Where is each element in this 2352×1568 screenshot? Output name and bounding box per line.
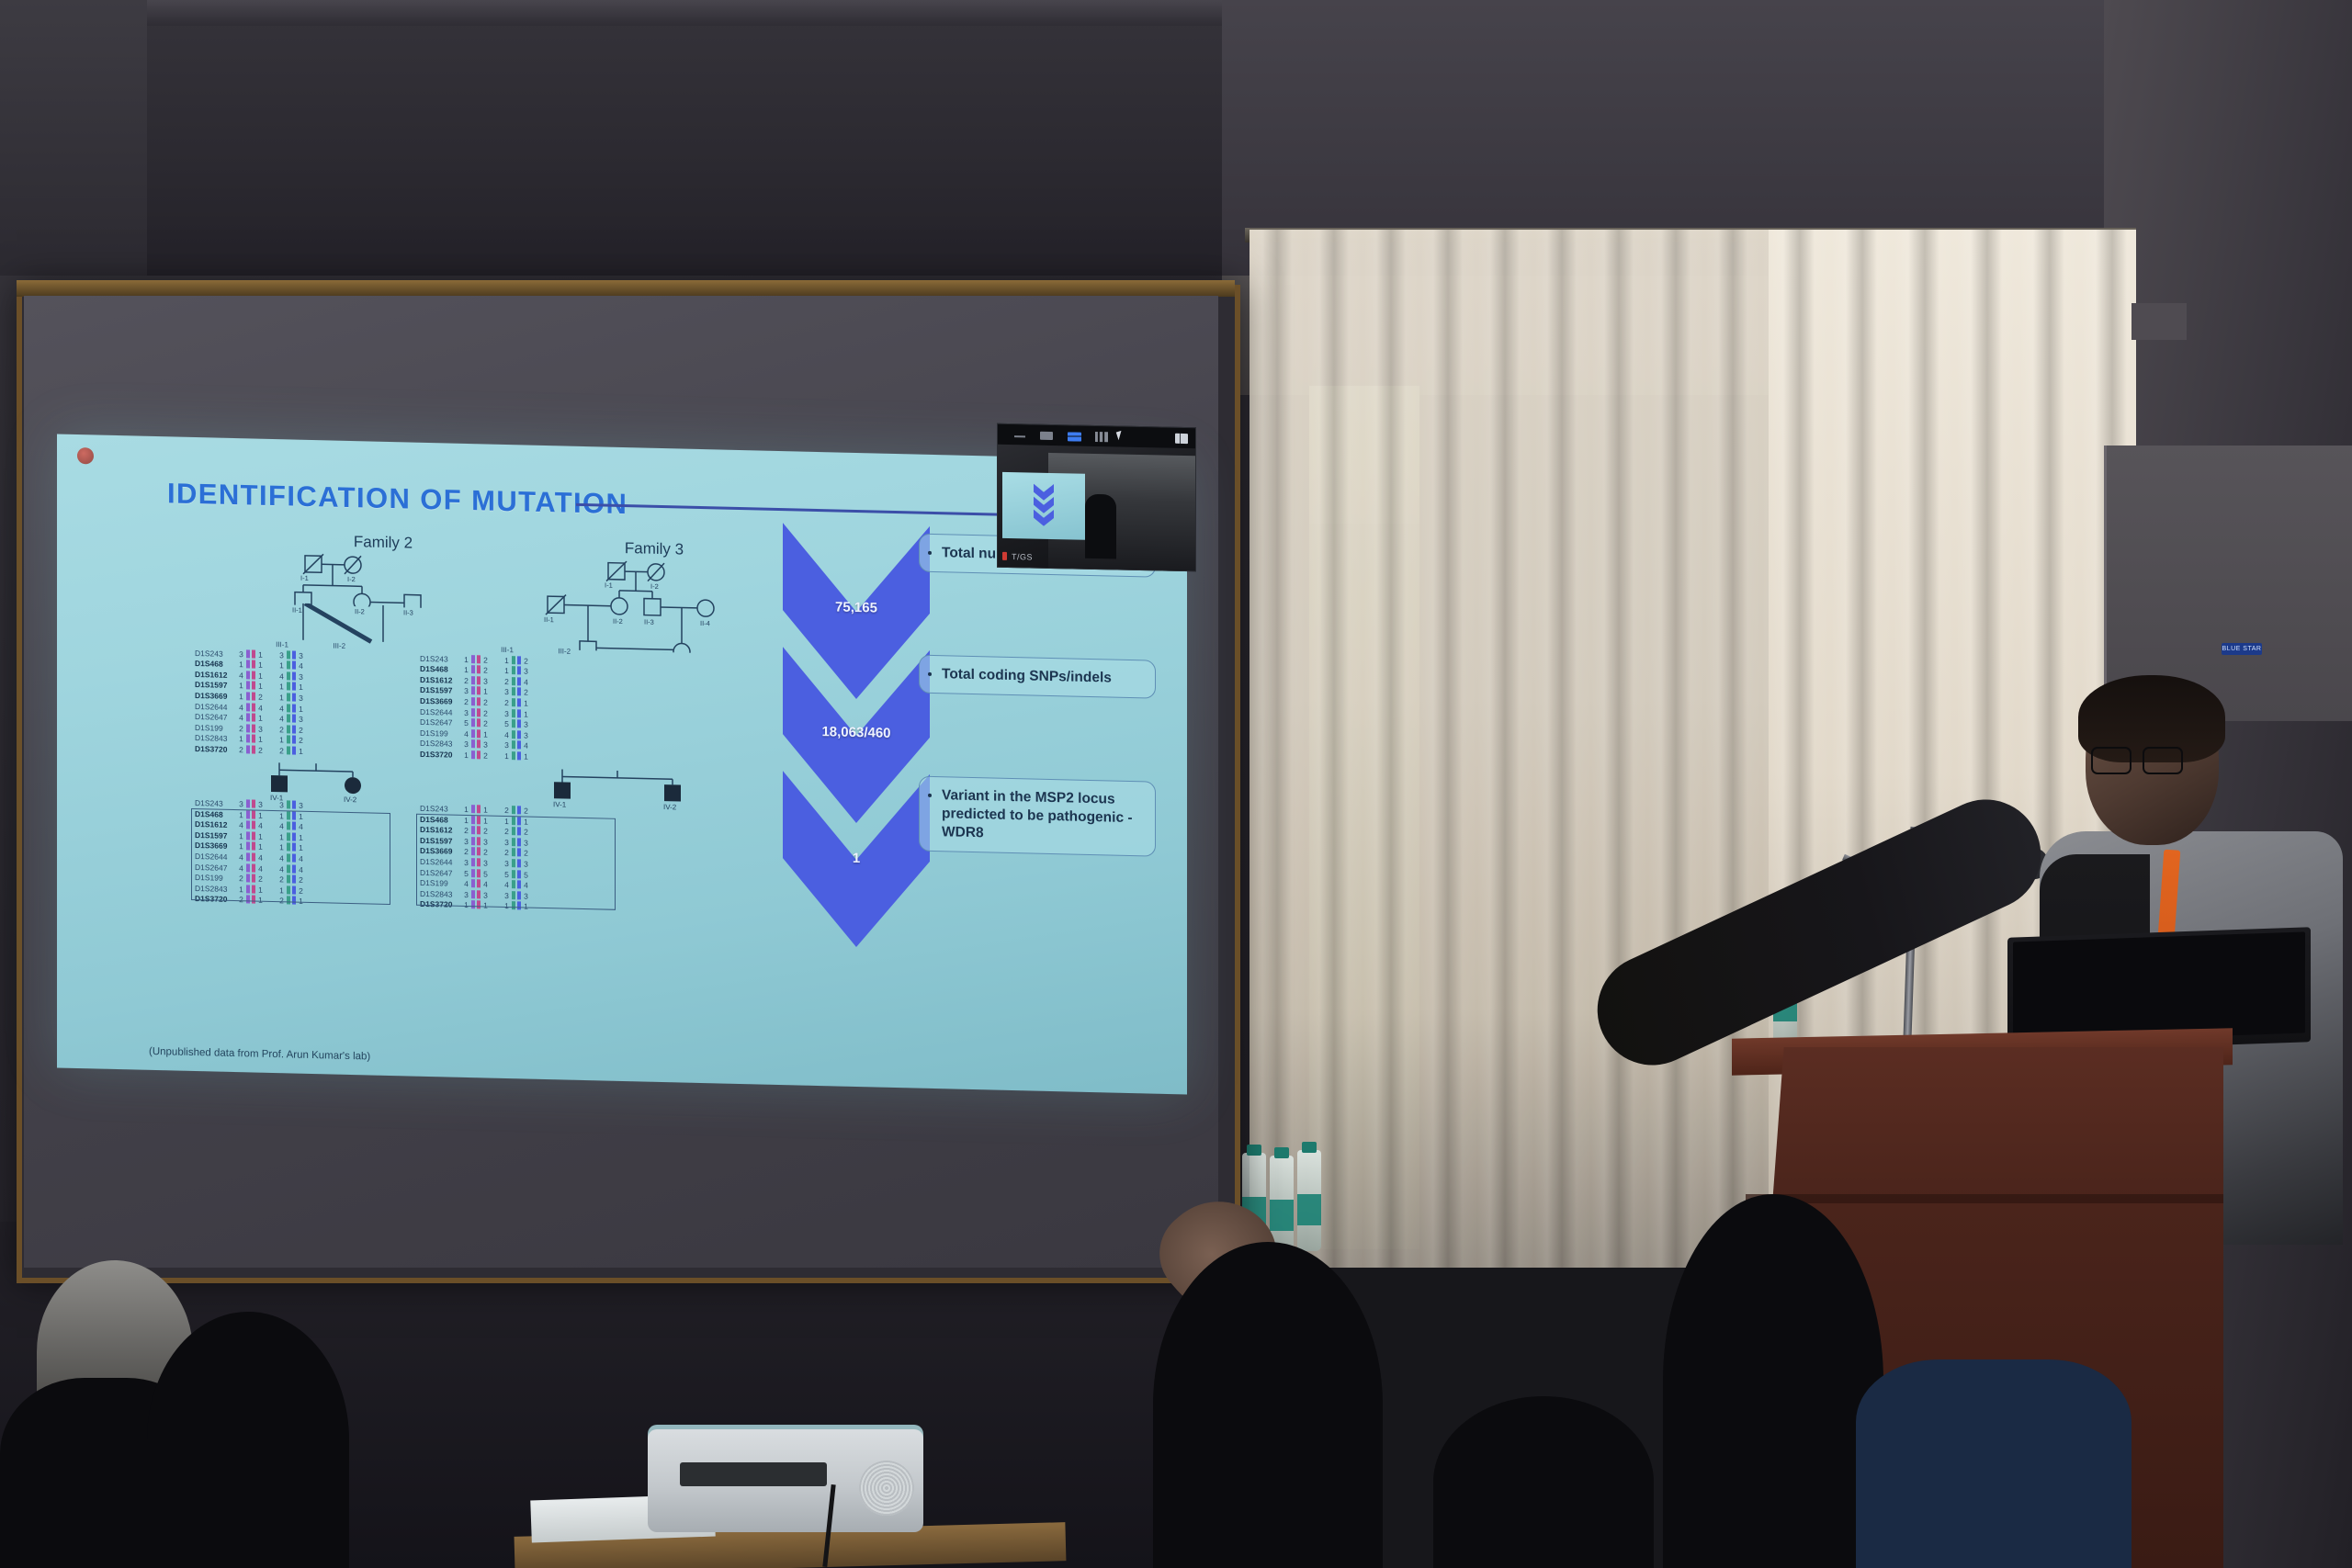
haplotype-allele: 2 xyxy=(297,725,305,736)
haplotype-allele: 1 xyxy=(522,709,530,720)
video-conference-feed: T/GS xyxy=(998,445,1195,571)
haplotype-bar xyxy=(246,682,250,690)
haplotype-bar xyxy=(477,665,481,673)
haplotype-table-family3-upper: III-1 III-2 D1S2431212D1S4681213D1S16122… xyxy=(420,643,585,764)
haplotype-bar xyxy=(246,724,250,732)
haplotype-allele: 1 xyxy=(481,805,490,816)
haplotype-bar xyxy=(287,693,290,701)
haplotype-allele: 1 xyxy=(503,751,511,762)
haplotype-bar xyxy=(512,741,515,750)
haplotype-bar xyxy=(246,692,250,700)
haplotype-bar xyxy=(471,805,475,813)
haplotype-bar xyxy=(512,806,515,814)
video-conference-overlay[interactable]: T/GS xyxy=(997,423,1196,572)
haplotype-bar xyxy=(246,671,250,679)
haplotype-bar xyxy=(517,806,521,814)
haplotype-bar xyxy=(517,688,521,696)
haplotype-allele: 3 xyxy=(297,715,305,726)
eyeglasses-icon xyxy=(2091,747,2183,773)
haplotype-allele: 4 xyxy=(237,713,245,724)
haplotype-bar xyxy=(252,745,255,753)
haplotype-allele: 2 xyxy=(237,745,245,756)
affected-male-symbol xyxy=(271,775,288,792)
haplotype-allele: 1 xyxy=(297,704,305,715)
haplotype-allele: 4 xyxy=(277,704,286,715)
haplotype-bar xyxy=(246,714,250,722)
haplotype-bar xyxy=(477,718,481,727)
haplotype-bar xyxy=(287,736,290,744)
haplotype-table-family2-upper: III-1 III-2 D1S2433133D1S4681114D1S16124… xyxy=(195,637,360,759)
bottle-cap-icon xyxy=(1302,1142,1317,1153)
projector-vent-icon xyxy=(859,1461,914,1516)
haplotype-bar xyxy=(246,799,250,807)
single-view-icon[interactable] xyxy=(1040,432,1053,440)
haplotype-allele: 4 xyxy=(522,677,530,688)
haplotype-allele: 3 xyxy=(522,720,530,731)
title-underline-rule xyxy=(576,503,999,516)
slide-footnote: (Unpublished data from Prof. Arun Kumar'… xyxy=(149,1046,370,1063)
pedigree-label-II-4: II-4 xyxy=(700,619,710,627)
haplotype-allele: 2 xyxy=(522,806,530,817)
haplotype-allele: 4 xyxy=(277,671,286,682)
shared-haplotype-region-box-family2 xyxy=(191,808,390,905)
haplotype-bar xyxy=(512,730,515,739)
haplotype-allele: 1 xyxy=(503,666,511,677)
haplotype-bar xyxy=(512,709,515,717)
haplotype-allele: 1 xyxy=(277,736,286,747)
bottle-cap-icon xyxy=(1274,1147,1289,1158)
haplotype-bar xyxy=(292,801,296,809)
haplotype-allele: 1 xyxy=(462,665,470,676)
haplotype-bar xyxy=(477,655,481,663)
haplotype-column-header: III-1 xyxy=(261,639,303,651)
haplotype-bar xyxy=(471,750,475,759)
haplotype-bar xyxy=(292,694,296,702)
haplotype-allele: 3 xyxy=(462,739,470,750)
haplotype-allele: 1 xyxy=(481,729,490,740)
haplotype-bar xyxy=(287,682,290,691)
haplotype-bar xyxy=(512,751,515,760)
haplotype-bar xyxy=(512,677,515,685)
pedigree-label-I-1: I-1 xyxy=(300,574,309,582)
bottle-label xyxy=(1270,1200,1294,1231)
haplotype-bar xyxy=(512,688,515,696)
haplotype-bar xyxy=(292,661,296,670)
haplotype-allele: 1 xyxy=(503,656,511,667)
haplotype-allele: 3 xyxy=(462,686,470,697)
haplotype-allele: 3 xyxy=(297,671,305,682)
air-conditioner-brand-label: BLUE STAR xyxy=(2222,643,2262,655)
haplotype-bar xyxy=(292,682,296,691)
haplotype-allele: 2 xyxy=(481,697,490,708)
haplotype-allele: 3 xyxy=(237,649,245,660)
haplotype-bar xyxy=(246,703,250,711)
haplotype-allele: 4 xyxy=(277,714,286,725)
haplotype-bar xyxy=(252,703,255,711)
haplotype-allele: 4 xyxy=(503,730,511,741)
haplotype-allele: 1 xyxy=(256,735,265,746)
pedigree-family-3-graph: I-1 I-2 II-1 II-2 II-3 II-4 xyxy=(516,555,792,655)
haplotype-allele: 3 xyxy=(522,667,530,678)
gallery-view-icon[interactable] xyxy=(1095,432,1108,442)
haplotype-bar xyxy=(292,704,296,712)
haplotype-bar xyxy=(477,729,481,738)
eyeglass-lens-left xyxy=(2091,747,2131,774)
haplotype-allele: 3 xyxy=(237,799,245,810)
pedigree-label-IV-1: IV-1 xyxy=(553,800,567,808)
funnel-callout-2: Total coding SNPs/indels xyxy=(919,655,1156,699)
haplotype-allele: 3 xyxy=(462,707,470,718)
remote-person-silhouette xyxy=(1085,494,1116,559)
pedigree-family-2-generation-1-2: I-1 I-2 xyxy=(250,548,516,610)
haplotype-allele: 1 xyxy=(256,682,265,693)
slide-title: IDENTIFICATION OF MUTATION xyxy=(167,477,628,521)
minimize-icon[interactable] xyxy=(1014,435,1025,437)
audience-member-head xyxy=(1153,1242,1383,1568)
haplotype-allele: 1 xyxy=(462,805,470,816)
haplotype-allele: 2 xyxy=(503,698,511,709)
water-bottle xyxy=(1297,1150,1321,1251)
projector-port-panel xyxy=(680,1462,827,1486)
haplotype-allele: 3 xyxy=(503,687,511,698)
haplotype-allele: 1 xyxy=(237,660,245,671)
haplotype-allele: 5 xyxy=(462,718,470,729)
video-conference-badge: T/GS xyxy=(1002,550,1033,564)
haplotype-bar xyxy=(471,739,475,748)
haplotype-allele: 1 xyxy=(256,660,265,671)
haplotype-allele: 1 xyxy=(462,750,470,761)
haplotype-bar xyxy=(287,715,290,723)
haplotype-allele: 3 xyxy=(297,801,305,812)
haplotype-bar xyxy=(471,729,475,738)
shared-slide-thumbnail[interactable] xyxy=(1002,472,1085,540)
haplotype-allele: 2 xyxy=(277,746,286,757)
haplotype-bar xyxy=(292,725,296,733)
haplotype-bar xyxy=(517,741,521,750)
haplotype-bar xyxy=(512,666,515,674)
haplotype-allele: 3 xyxy=(297,694,305,705)
funnel-callout-text: Total coding SNPs/indels xyxy=(942,665,1146,688)
haplotype-bar xyxy=(471,655,475,663)
haplotype-allele: 1 xyxy=(277,682,286,694)
haplotype-allele: 1 xyxy=(522,698,530,709)
haplotype-bar xyxy=(246,649,250,658)
haplotype-bar xyxy=(517,656,521,664)
haplotype-allele: 4 xyxy=(462,729,470,740)
pedigree-label-I-2: I-2 xyxy=(650,582,659,591)
haplotype-bar xyxy=(252,671,255,679)
haplotype-allele: 1 xyxy=(522,751,530,762)
haplotype-allele: 2 xyxy=(481,750,490,761)
haplotype-bar xyxy=(471,676,475,684)
haplotype-allele: 3 xyxy=(481,740,490,751)
podium-front-edge xyxy=(1746,1194,2223,1203)
pedigree-label-I-1: I-1 xyxy=(605,581,613,590)
haplotype-rows: D1S2433133D1S4681114D1S16124143D1S159711… xyxy=(195,649,360,759)
haplotype-allele: 1 xyxy=(237,692,245,703)
haplotype-marker-label: D1S3720 xyxy=(195,744,237,756)
haplotype-allele: 2 xyxy=(277,725,286,736)
funnel-callout-3: Variant in the MSP2 locus predicted to b… xyxy=(919,776,1156,857)
haplotype-bar xyxy=(287,661,290,670)
haplotype-bar xyxy=(252,649,255,658)
haplotype-allele: 4 xyxy=(522,741,530,752)
haplotype-allele: 2 xyxy=(503,677,511,688)
haplotype-allele: 3 xyxy=(277,650,286,661)
haplotype-allele: 1 xyxy=(237,734,245,745)
haplotype-allele: 3 xyxy=(256,800,265,811)
haplotype-allele: 2 xyxy=(481,655,490,666)
institution-logo-icon xyxy=(77,447,94,464)
affected-male-symbol xyxy=(664,784,681,801)
eyeglass-lens-right xyxy=(2143,747,2183,774)
video-conference-badge-label: T/GS xyxy=(1012,552,1033,561)
haplotype-allele: 3 xyxy=(503,708,511,719)
haplotype-allele: 3 xyxy=(522,730,530,741)
haplotype-allele: 3 xyxy=(297,650,305,661)
haplotype-bar xyxy=(517,730,521,739)
haplotype-bar xyxy=(517,667,521,675)
audience-member-shoulder xyxy=(1433,1396,1654,1568)
upper-left-wall xyxy=(0,0,147,303)
haplotype-bar xyxy=(477,740,481,749)
haplotype-allele: 2 xyxy=(462,676,470,687)
haplotype-bar xyxy=(517,698,521,706)
haplotype-allele: 2 xyxy=(256,746,265,757)
haplotype-bar xyxy=(471,708,475,716)
haplotype-bar xyxy=(252,714,255,722)
haplotype-allele: 3 xyxy=(503,740,511,751)
pedigree-label-II-3: II-3 xyxy=(644,618,654,626)
haplotype-bar xyxy=(477,687,481,695)
haplotype-column-header: III-2 xyxy=(318,640,360,652)
thumbnail-chevrons-icon xyxy=(1034,484,1054,526)
haplotype-bar xyxy=(517,719,521,728)
haplotype-bar xyxy=(246,745,250,753)
haplotype-allele: 1 xyxy=(237,682,245,693)
funnel-callout-text: Variant in the MSP2 locus predicted to b… xyxy=(942,786,1146,846)
haplotype-bar xyxy=(471,687,475,695)
haplotype-bar xyxy=(512,719,515,728)
haplotype-bar xyxy=(292,715,296,723)
haplotype-bar xyxy=(287,704,290,712)
haplotype-bar xyxy=(512,656,515,664)
haplotype-bar xyxy=(246,660,250,669)
pedigree-label-II-3: II-3 xyxy=(403,608,413,616)
haplotype-allele: 3 xyxy=(481,676,490,687)
affected-female-symbol xyxy=(345,777,361,794)
haplotype-bar xyxy=(252,682,255,690)
wall-plate xyxy=(2131,303,2187,340)
haplotype-bar xyxy=(477,697,481,705)
haplotype-allele: 1 xyxy=(297,747,305,758)
haplotype-allele: 2 xyxy=(297,736,305,747)
haplotype-bar xyxy=(292,671,296,680)
pedigree-label-II-2: II-2 xyxy=(355,607,365,615)
audience-member-head xyxy=(147,1312,349,1568)
haplotype-bar xyxy=(252,692,255,700)
haplotype-marker-label: D1S3720 xyxy=(420,750,462,761)
haplotype-allele: 1 xyxy=(256,649,265,660)
haplotype-bar xyxy=(477,676,481,684)
curtain-left xyxy=(1249,230,1782,1268)
haplotype-allele: 2 xyxy=(256,693,265,704)
haplotype-allele: 4 xyxy=(297,661,305,672)
haplotype-bar xyxy=(292,650,296,659)
haplotype-bar xyxy=(292,746,296,754)
haplotype-allele: 5 xyxy=(503,719,511,730)
haplotype-bar xyxy=(287,725,290,733)
haplotype-allele: 4 xyxy=(237,671,245,682)
haplotype-bar xyxy=(517,709,521,717)
haplotype-allele: 4 xyxy=(237,703,245,714)
haplotype-bar xyxy=(246,735,250,743)
pedigree-label-I-2: I-2 xyxy=(347,575,356,583)
haplotype-allele: 1 xyxy=(277,660,286,671)
haplotype-allele: 1 xyxy=(297,682,305,694)
haplotype-bar xyxy=(287,671,290,680)
haplotype-bar xyxy=(517,677,521,685)
pedigree-label-II-1: II-1 xyxy=(544,615,554,624)
haplotype-bar xyxy=(252,660,255,669)
haplotype-bar xyxy=(287,650,290,659)
haplotype-column-header: III-1 xyxy=(486,645,528,657)
audience-member-head xyxy=(1663,1194,1883,1568)
haplotype-allele: 4 xyxy=(256,703,265,714)
pedigree-label-IV-2: IV-2 xyxy=(344,795,357,804)
haplotype-bar xyxy=(477,805,481,813)
audience-member-shoulder xyxy=(1856,1359,2131,1568)
cursor-icon xyxy=(1116,431,1124,440)
pedigree-label-II-1: II-1 xyxy=(292,606,302,615)
haplotype-allele: 1 xyxy=(462,654,470,665)
haplotype-column-header: III-2 xyxy=(543,646,585,658)
haplotype-bar xyxy=(252,735,255,743)
haplotype-bar xyxy=(477,750,481,759)
haplotype-allele: 2 xyxy=(237,724,245,735)
haplotype-allele: 1 xyxy=(256,671,265,682)
bottle-cap-icon xyxy=(1247,1145,1261,1156)
pedigree-family-3: Family 3 xyxy=(516,536,792,655)
haplotype-allele: 2 xyxy=(481,666,490,677)
haplotype-allele: 2 xyxy=(522,656,530,667)
pedigree-family-2: Family 2 I-1 xyxy=(250,530,516,647)
affected-male-symbol xyxy=(554,782,571,798)
variant-filtering-funnel: 75,165 Total number of variants 18,063/4… xyxy=(783,523,1169,1046)
recording-indicator-icon xyxy=(1002,552,1007,560)
haplotype-allele: 3 xyxy=(277,800,286,811)
haplotype-allele: 2 xyxy=(522,688,530,699)
haplotype-allele: 1 xyxy=(481,687,490,698)
pedigree-label-II-2: II-2 xyxy=(613,617,623,626)
screenshot-root: BLUE STAR Introduction IDENTIFICATION OF… xyxy=(0,0,2352,1568)
pedigree-label-IV-2: IV-2 xyxy=(663,803,677,811)
haplotype-bar xyxy=(292,736,296,744)
haplotype-allele: 1 xyxy=(277,693,286,704)
haplotype-rows: D1S2431212D1S4681213D1S16122324D1S159731… xyxy=(420,653,585,763)
haplotype-allele: 1 xyxy=(256,714,265,725)
haplotype-bar xyxy=(512,698,515,706)
haplotype-bar xyxy=(471,697,475,705)
haplotype-allele: 2 xyxy=(481,719,490,730)
haplotype-bar xyxy=(471,665,475,673)
haplotype-bar xyxy=(252,800,255,808)
haplotype-allele: 3 xyxy=(256,724,265,735)
projection-screen-top-bar xyxy=(17,280,1235,297)
haplotype-bar xyxy=(471,718,475,727)
haplotype-allele: 2 xyxy=(481,708,490,719)
haplotype-bar xyxy=(287,746,290,754)
app-icon[interactable] xyxy=(1175,434,1188,444)
speaker-view-icon[interactable] xyxy=(1068,432,1081,441)
haplotype-bar xyxy=(517,751,521,760)
laptop-screen xyxy=(2013,931,2305,1043)
bottle-label xyxy=(1297,1194,1321,1225)
haplotype-bar xyxy=(477,708,481,716)
haplotype-bar xyxy=(252,724,255,732)
haplotype-bar xyxy=(287,800,290,808)
shared-haplotype-region-box-family3 xyxy=(416,814,616,910)
haplotype-allele: 2 xyxy=(462,697,470,708)
